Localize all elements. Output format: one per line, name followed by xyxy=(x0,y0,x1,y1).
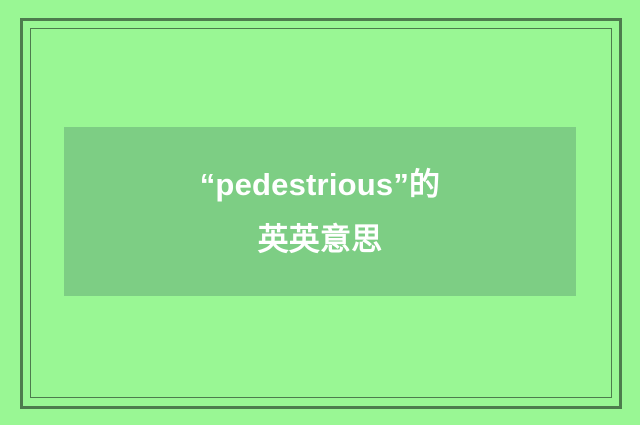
image-card: “pedestrious”的英英意思 xyxy=(0,0,640,425)
banner-title: “pedestrious”的英英意思 xyxy=(189,157,451,267)
banner-panel: “pedestrious”的英英意思 xyxy=(64,127,576,296)
